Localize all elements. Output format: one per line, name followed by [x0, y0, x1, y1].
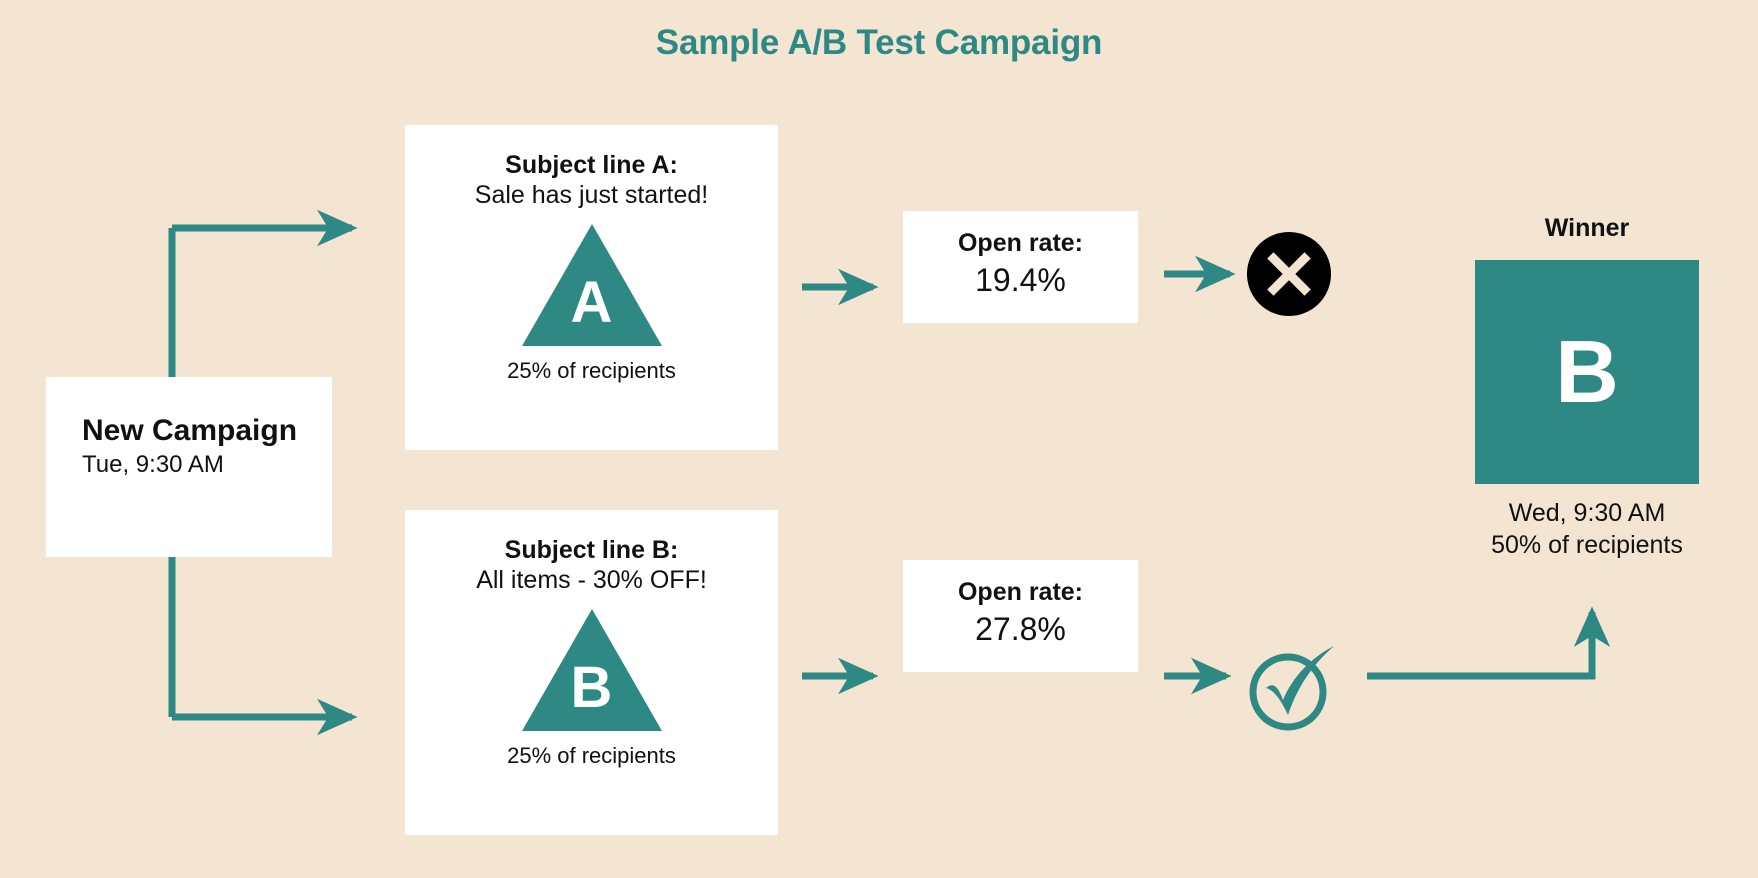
winner-label: Winner [1473, 214, 1701, 243]
variant-a-letter: A [522, 274, 662, 332]
new-campaign-time: Tue, 9:30 AM [82, 451, 322, 479]
winner-share: 50% of recipients [1473, 530, 1701, 562]
open-rate-a-card[interactable]: Open rate: 19.4% [903, 211, 1138, 323]
variant-a-card[interactable]: Subject line A: Sale has just started! A… [405, 125, 778, 450]
x-circle-icon [1247, 232, 1331, 316]
open-rate-b-label: Open rate: [903, 578, 1138, 607]
open-rate-b-card[interactable]: Open rate: 27.8% [903, 560, 1138, 672]
winner-square[interactable]: B [1475, 260, 1699, 484]
variant-a-heading: Subject line A: [405, 151, 778, 180]
variant-b-triangle: B [522, 609, 662, 731]
winner-time: Wed, 9:30 AM [1473, 498, 1701, 530]
variant-b-heading: Subject line B: [405, 536, 778, 565]
variant-a-subject: Sale has just started! [405, 181, 778, 210]
variant-a-share: 25% of recipients [405, 358, 778, 384]
open-rate-a-label: Open rate: [903, 229, 1138, 258]
page-title: Sample A/B Test Campaign [0, 23, 1758, 63]
winner-letter: B [1475, 260, 1699, 484]
variant-a-triangle: A [522, 224, 662, 346]
new-campaign-card[interactable]: New Campaign Tue, 9:30 AM [46, 377, 332, 557]
open-rate-a-value: 19.4% [903, 262, 1138, 299]
winner-block: Winner B Wed, 9:30 AM 50% of recipients [1473, 214, 1701, 561]
ab-test-diagram: Sample A/B Test Campaign New Campaign Tu… [0, 0, 1758, 878]
arrow-pass-to-winner [1367, 612, 1592, 676]
check-circle-icon [1240, 638, 1340, 738]
new-campaign-title: New Campaign [82, 413, 322, 448]
variant-b-card[interactable]: Subject line B: All items - 30% OFF! B 2… [405, 510, 778, 835]
variant-b-subject: All items - 30% OFF! [405, 566, 778, 595]
open-rate-b-value: 27.8% [903, 611, 1138, 648]
variant-b-share: 25% of recipients [405, 743, 778, 769]
variant-b-letter: B [522, 659, 662, 717]
